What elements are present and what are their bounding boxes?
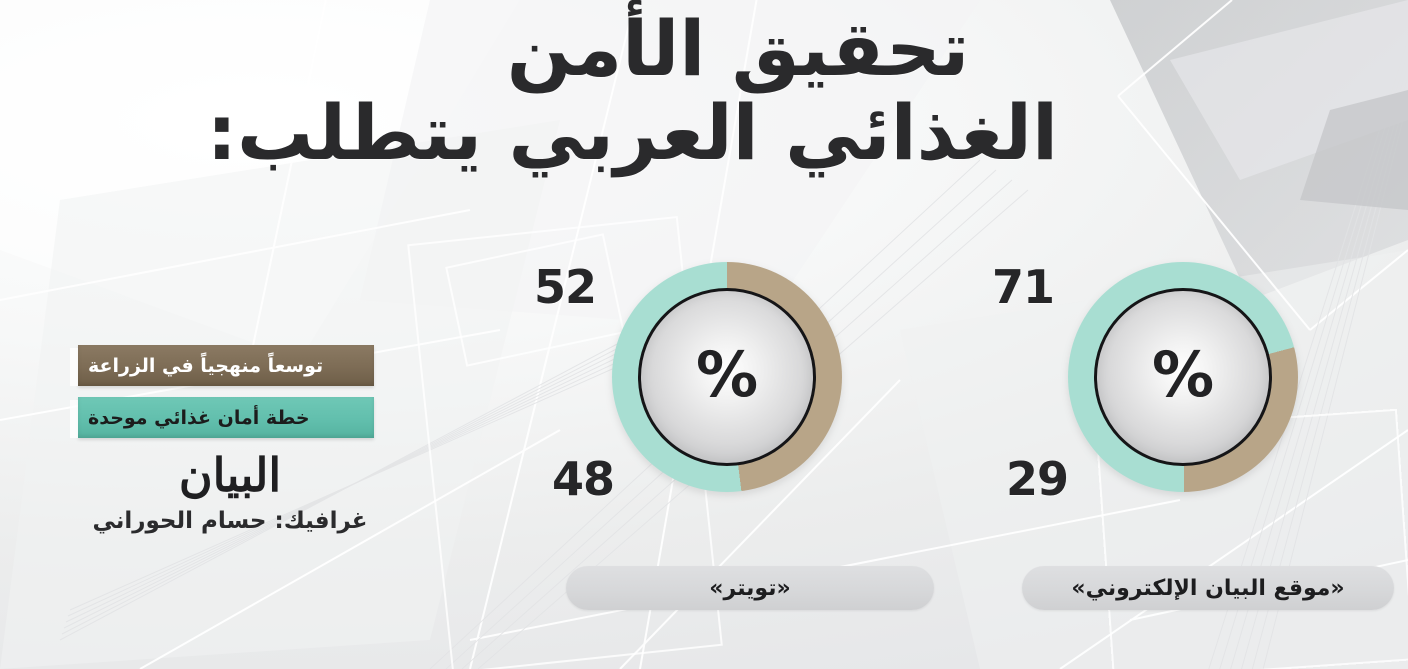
title-line-2: الغذائي العربي يتطلب: [418,92,1058,174]
source-pill-website[interactable]: «موقع البيان الإلكتروني» [1022,566,1394,610]
source-label-website: «موقع البيان الإلكتروني» [1071,576,1344,601]
source-label-twitter: «تويتر» [709,576,790,601]
donut-chart-twitter: % 52 48 [612,262,842,492]
albayan-logo: البيان [80,452,380,498]
legend-item-agriculture: توسعاً منهجياً في الزراعة [78,345,374,386]
donut-hub-website: % [1094,288,1272,466]
donut-wrap-twitter: % [612,262,842,492]
donut-hub-twitter: % [638,288,816,466]
legend-label-food-safety-plan: خطة أمان غذائي موحدة [88,407,310,429]
legend-item-food-safety-plan: خطة أمان غذائي موحدة [78,397,374,438]
brand-block: البيان غرافيك: حسام الحوراني [80,452,380,534]
value-brown-twitter: 48 [552,456,614,502]
source-pill-twitter[interactable]: «تويتر» [566,566,934,610]
value-brown-website: 29 [1006,456,1068,502]
percent-symbol-website: % [1152,344,1214,406]
title-line-1: تحقيق الأمن [418,8,1058,90]
percent-symbol-twitter: % [696,344,758,406]
value-teal-twitter: 52 [534,264,596,310]
donut-chart-website: % 71 29 [1068,262,1298,492]
legend: توسعاً منهجياً في الزراعة خطة أمان غذائي… [78,345,374,449]
value-teal-website: 71 [992,264,1054,310]
page-title: تحقيق الأمن الغذائي العربي يتطلب: [418,8,1058,174]
graphic-credit: غرافيك: حسام الحوراني [80,508,380,534]
infographic-canvas: تحقيق الأمن الغذائي العربي يتطلب: توسعاً… [0,0,1408,669]
donut-wrap-website: % [1068,262,1298,492]
legend-label-agriculture: توسعاً منهجياً في الزراعة [88,355,323,377]
